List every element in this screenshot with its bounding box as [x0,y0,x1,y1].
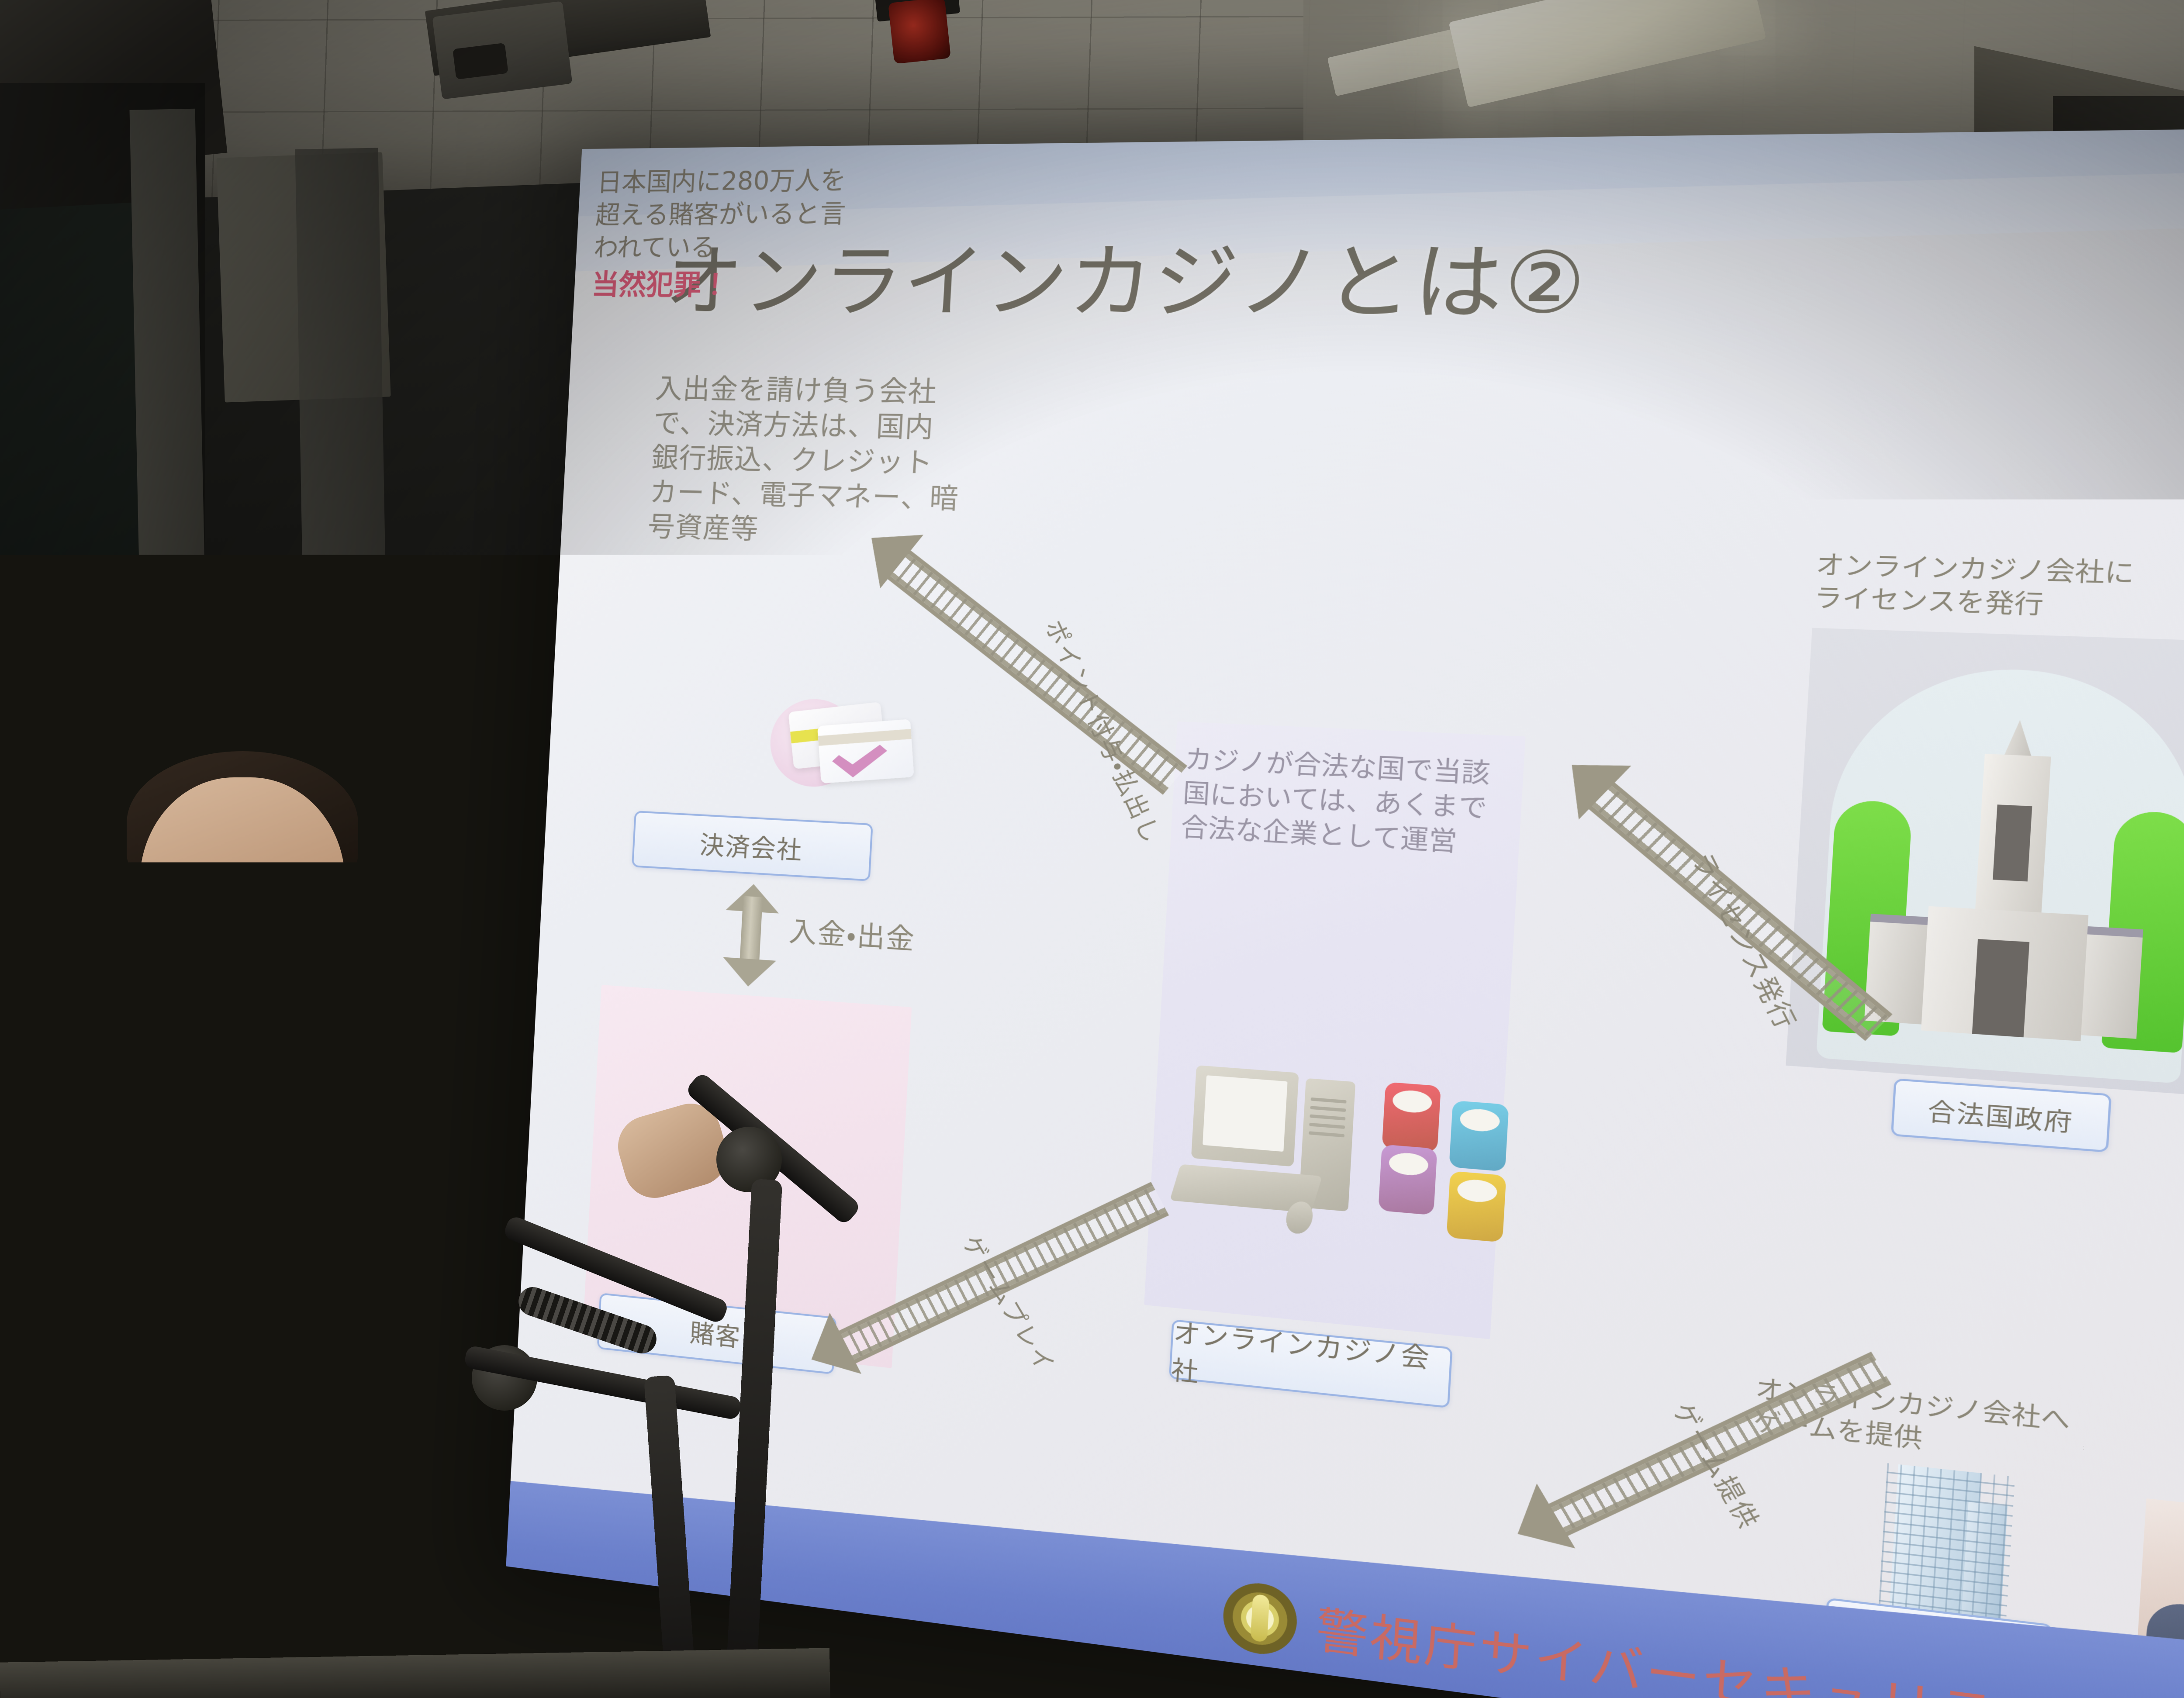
deposit-withdraw-arrow-icon [722,883,781,988]
license-caption: オンラインカジノ会社にライセンスを発行 [1813,549,2163,625]
points-arrow-icon [892,550,1187,788]
police-emblem-icon [1221,1579,1299,1658]
gambler-note-text: 日本国内に280万人を超える賭客がいると言われている [593,166,847,262]
camera-icon [888,0,951,64]
projection-screen: オンラインカジノとは② 入出金を請け負う会社で、決済方法は、国内銀行振込、クレジ… [544,151,2143,1570]
projector-lens-icon [453,43,508,79]
gambler-note: 日本国内に280万人を超える賭客がいると言われている 当然犯罪！ [591,163,872,304]
points-arrow-label: ポイント付与・払出し [1038,613,1172,849]
node-government-label: 合法国政府 [1927,1092,2074,1139]
node-government[interactable]: 合法国政府 [1891,1078,2112,1153]
payment-cards-icon [763,695,918,805]
node-payment-company[interactable]: 決済会社 [632,811,873,881]
speaker-shirt [0,975,502,1654]
desktop-computer-icon [1173,1064,1373,1234]
diet-building-icon [1916,722,2104,1052]
screenshot-root: オンラインカジノとは② 入出金を請け負う会社で、決済方法は、国内銀行振込、クレジ… [0,0,2184,1698]
gambler-alert-text: 当然犯罪！ [591,267,866,304]
payment-description: 入出金を請け負う会社で、決済方法は、国内銀行振込、クレジットカード、電子マネー、… [647,372,965,553]
deposit-withdraw-label: 入金・出金 [788,909,916,958]
node-casino-company[interactable]: オンラインカジノ会社 [1169,1319,1453,1408]
monitor-stand [891,1668,1035,1698]
casino-legal-note: カジノが合法な国で当該国においては、あくまで合法な企業として運営 [1180,743,1514,863]
node-payment-company-label: 決済会社 [699,825,804,866]
casino-chips-icon [1377,1082,1553,1248]
